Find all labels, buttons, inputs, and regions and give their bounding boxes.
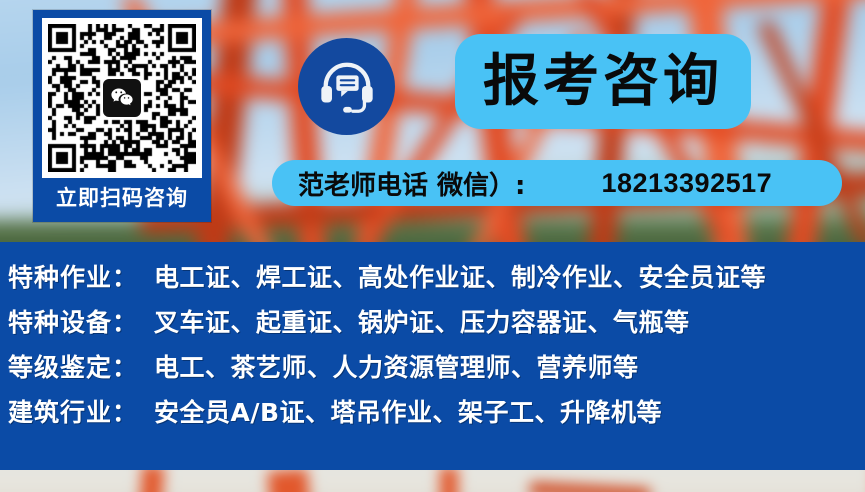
category-items: 电工证、焊工证、高处作业证、制冷作业、安全员证等 — [154, 258, 766, 294]
qr-code-image[interactable] — [42, 18, 202, 178]
contact-phone-pill[interactable]: 范老师电话 微信）: 18213392517 — [272, 160, 842, 206]
certificate-rows: 特种作业： 电工证、焊工证、高处作业证、制冷作业、安全员证等 特种设备： 叉车证… — [0, 258, 865, 438]
category-name: 建筑行业： — [8, 393, 138, 429]
bottom-photo-blur — [0, 470, 865, 492]
title-pill-label: 报考咨询 — [483, 54, 723, 110]
title-pill-baokao-zixun[interactable]: 报考咨询 — [455, 34, 751, 129]
category-name: 特种作业： — [8, 258, 138, 294]
category-items: 叉车证、起重证、锅炉证、压力容器证、气瓶等 — [154, 303, 690, 339]
bottom-photo-strip — [0, 470, 865, 492]
contact-label: 范老师电话 微信）: — [298, 165, 525, 202]
category-name: 等级鉴定： — [8, 348, 138, 384]
qr-code-card[interactable]: 立即扫码咨询 — [33, 10, 211, 222]
qr-label: 立即扫码咨询 — [33, 182, 211, 212]
list-item: 特种作业： 电工证、焊工证、高处作业证、制冷作业、安全员证等 — [0, 258, 865, 303]
headset-support-icon — [298, 38, 395, 135]
promo-poster: 立即扫码咨询 报考咨询 范老师电话 微信）: 18213392517 特种作业：… — [0, 0, 865, 492]
category-items: 安全员A/B证、塔吊作业、架子工、升降机等 — [154, 393, 662, 429]
list-item: 等级鉴定： 电工、茶艺师、人力资源管理师、营养师等 — [0, 348, 865, 393]
category-items: 电工、茶艺师、人力资源管理师、营养师等 — [154, 348, 639, 384]
list-item: 建筑行业： 安全员A/B证、塔吊作业、架子工、升降机等 — [0, 393, 865, 438]
category-name: 特种设备： — [8, 303, 138, 339]
contact-phone-number[interactable]: 18213392517 — [601, 168, 772, 199]
certificate-list-band: 特种作业： 电工证、焊工证、高处作业证、制冷作业、安全员证等 特种设备： 叉车证… — [0, 242, 865, 470]
list-item: 特种设备： 叉车证、起重证、锅炉证、压力容器证、气瓶等 — [0, 303, 865, 348]
wechat-icon — [103, 79, 141, 117]
